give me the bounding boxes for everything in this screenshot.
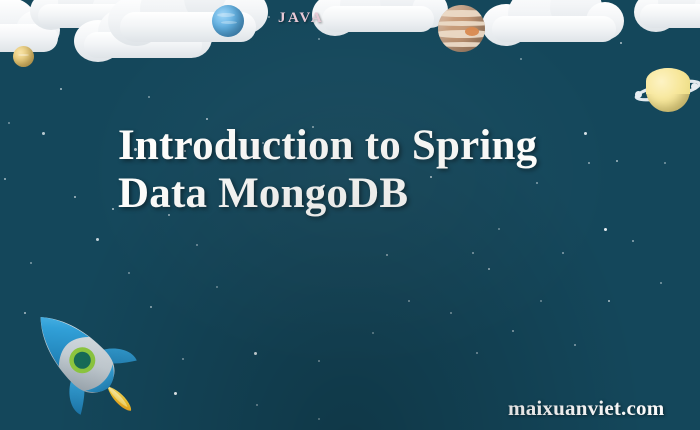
kicker-label: JAVA [278, 10, 324, 27]
page-title: Introduction to SpringData MongoDB [118, 122, 588, 218]
planet-saturn-icon [634, 60, 700, 120]
watermark-label: maixuanviet.com [508, 396, 664, 421]
space-banner: JAVA Introduction to SpringData MongoDB … [0, 0, 700, 430]
rocket-svg [18, 292, 148, 430]
planet-neptune-icon [212, 5, 244, 37]
saturn-ring-knob-left [635, 91, 642, 98]
headline-line-2: Data MongoDB [118, 170, 408, 217]
planet-gold-icon [13, 46, 34, 67]
headline-line-1: Introduction to Spring [118, 122, 537, 169]
saturn-ring-mask [646, 68, 690, 94]
rocket-flame-core [106, 385, 129, 409]
saturn-ring-knob-right [691, 83, 698, 90]
planet-jupiter-icon [438, 5, 485, 52]
rocket-icon [18, 292, 148, 430]
